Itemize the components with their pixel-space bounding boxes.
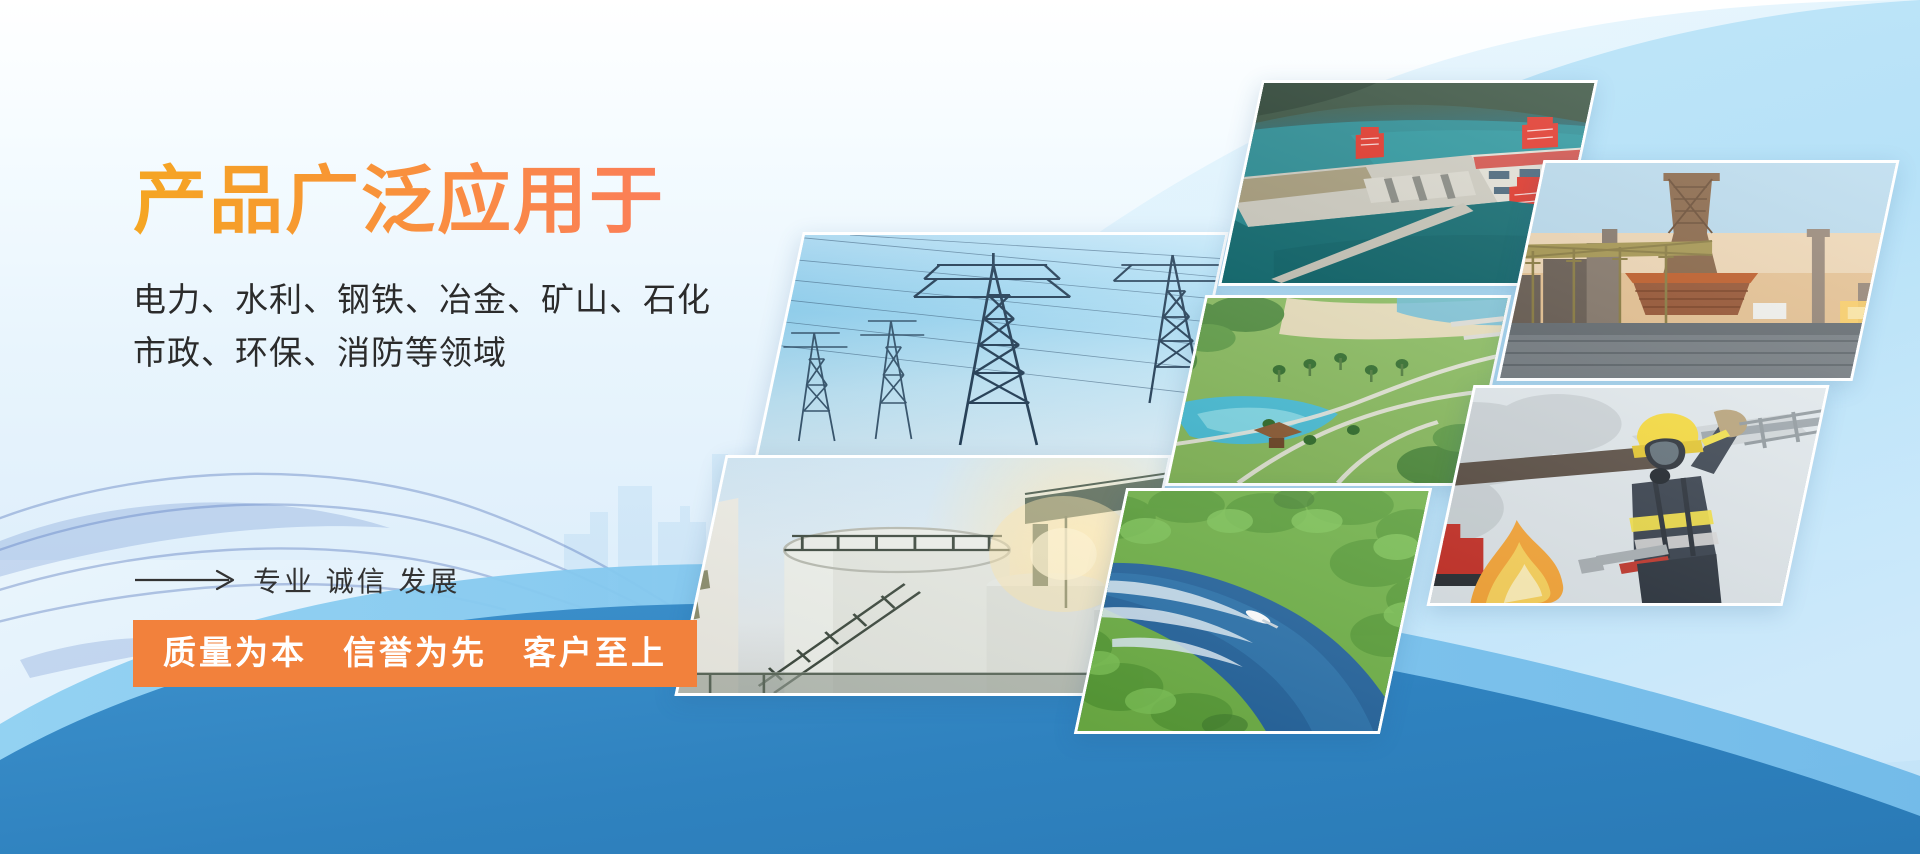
subtitle-line-1: 电力、水利、钢铁、冶金、矿山、石化 <box>133 273 833 326</box>
subtitle-line-2: 市政、环保、消防等领域 <box>133 326 833 379</box>
headline-block: 产品广泛应用于 电力、水利、钢铁、冶金、矿山、石化 市政、环保、消防等领域 <box>133 160 833 380</box>
photo-river-forest-aerial <box>1074 488 1432 734</box>
arrow-right-icon <box>133 569 239 591</box>
photo-steel-metallurgy-plant <box>1497 160 1900 381</box>
photo-firefighter-training <box>1427 385 1830 606</box>
page-title: 产品广泛应用于 <box>133 160 833 243</box>
photo-collage <box>0 0 1920 854</box>
quality-badge: 质量为本 信誉为先 客户至上 <box>133 620 697 687</box>
quality-badge-text: 质量为本 信誉为先 客户至上 <box>163 634 667 671</box>
slogan-text: 专业 诚信 发展 <box>253 560 461 600</box>
slogan-row: 专业 诚信 发展 <box>133 560 461 600</box>
banner-root: 产品广泛应用于 电力、水利、钢铁、冶金、矿山、石化 市政、环保、消防等领域 专业… <box>0 0 1920 854</box>
